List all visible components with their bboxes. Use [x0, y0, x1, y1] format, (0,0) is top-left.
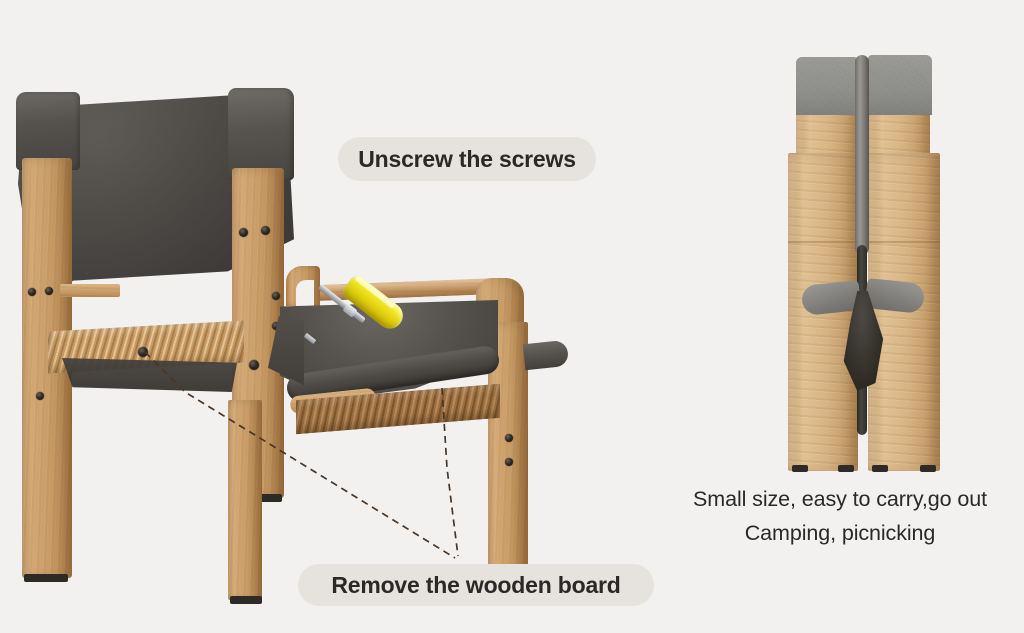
- caption-block: Small size, easy to carry,go out Camping…: [660, 482, 1020, 550]
- illustration-canvas: Unscrew the screws Remove the wooden boa…: [0, 0, 1024, 633]
- label-remove-the-wooden-board: Remove the wooden board: [298, 564, 654, 606]
- caption-line-1: Small size, easy to carry,go out: [660, 482, 1020, 516]
- leader-line-back-board: [145, 352, 455, 558]
- label-unscrew-the-screws: Unscrew the screws: [338, 137, 596, 181]
- caption-line-2: Camping, picnicking: [660, 516, 1020, 550]
- leader-line-front-board: [442, 388, 458, 556]
